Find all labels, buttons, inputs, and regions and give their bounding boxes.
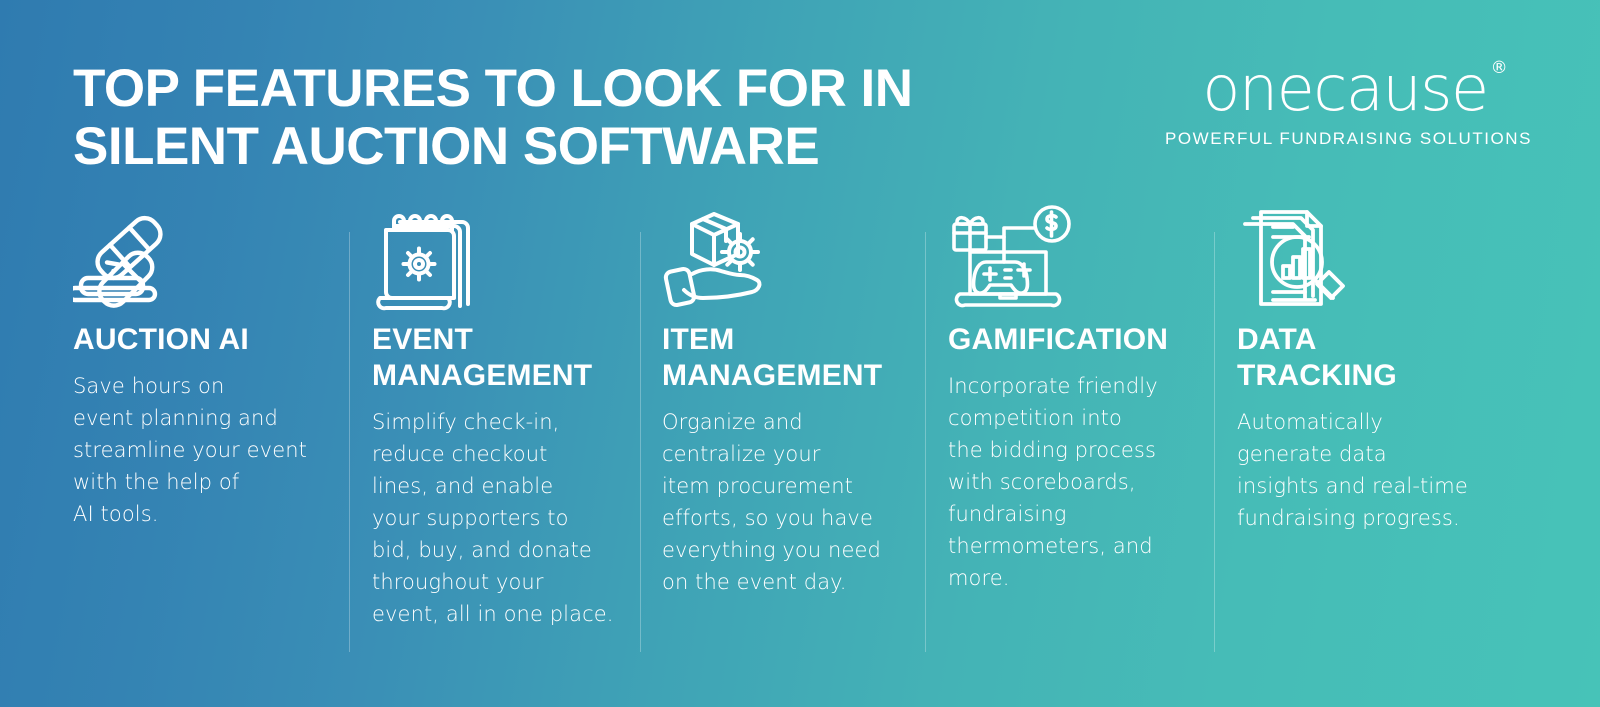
laptop-gamepad-gift-coin-icon — [948, 200, 1206, 322]
feature-column-auction-ai: AUCTION AI Save hours on event planning … — [73, 200, 341, 530]
calendar-gear-icon — [372, 200, 640, 322]
logo-wordmark: onecause ® — [1202, 58, 1487, 120]
feature-title: GAMIFICATION — [948, 322, 1206, 358]
page-title: TOP FEATURES TO LOOK FOR IN SILENT AUCTI… — [73, 60, 1033, 176]
feature-description: Automatically generate data insights and… — [1237, 406, 1505, 534]
feature-title: ITEM MANAGEMENT — [662, 322, 930, 394]
documents-magnifier-chart-icon — [1237, 200, 1505, 322]
feature-description: Incorporate friendly competition into th… — [948, 370, 1206, 594]
column-divider — [349, 232, 350, 652]
feature-column-event-management: EVENT MANAGEMENT Simplify check-in, redu… — [372, 200, 640, 630]
column-divider — [640, 232, 641, 652]
brand-logo: onecause ® POWERFUL FUNDRAISING SOLUTION… — [1165, 58, 1525, 149]
feature-description: Save hours on event planning and streaml… — [73, 370, 341, 530]
feature-title: EVENT MANAGEMENT — [372, 322, 640, 394]
feature-title: DATA TRACKING — [1237, 322, 1505, 394]
feature-title: AUCTION AI — [73, 322, 341, 358]
registered-trademark-icon: ® — [1491, 60, 1508, 77]
feature-column-item-management: ITEM MANAGEMENT Organize and centralize … — [662, 200, 930, 598]
hand-box-gear-icon — [662, 200, 930, 322]
infographic-banner: TOP FEATURES TO LOOK FOR IN SILENT AUCTI… — [0, 0, 1600, 707]
logo-tagline: POWERFUL FUNDRAISING SOLUTIONS — [1165, 129, 1525, 149]
feature-columns: AUCTION AI Save hours on event planning … — [0, 200, 1600, 707]
gavel-icon — [73, 200, 341, 322]
feature-column-data-tracking: DATA TRACKING Automatically generate dat… — [1237, 200, 1505, 534]
header: TOP FEATURES TO LOOK FOR IN SILENT AUCTI… — [0, 0, 1600, 200]
feature-column-gamification: GAMIFICATION Incorporate friendly compet… — [948, 200, 1206, 594]
feature-description: Simplify check-in, reduce checkout lines… — [372, 406, 640, 630]
logo-wordmark-text: onecause — [1202, 52, 1487, 125]
column-divider — [1214, 232, 1215, 652]
feature-description: Organize and centralize your item procur… — [662, 406, 930, 598]
